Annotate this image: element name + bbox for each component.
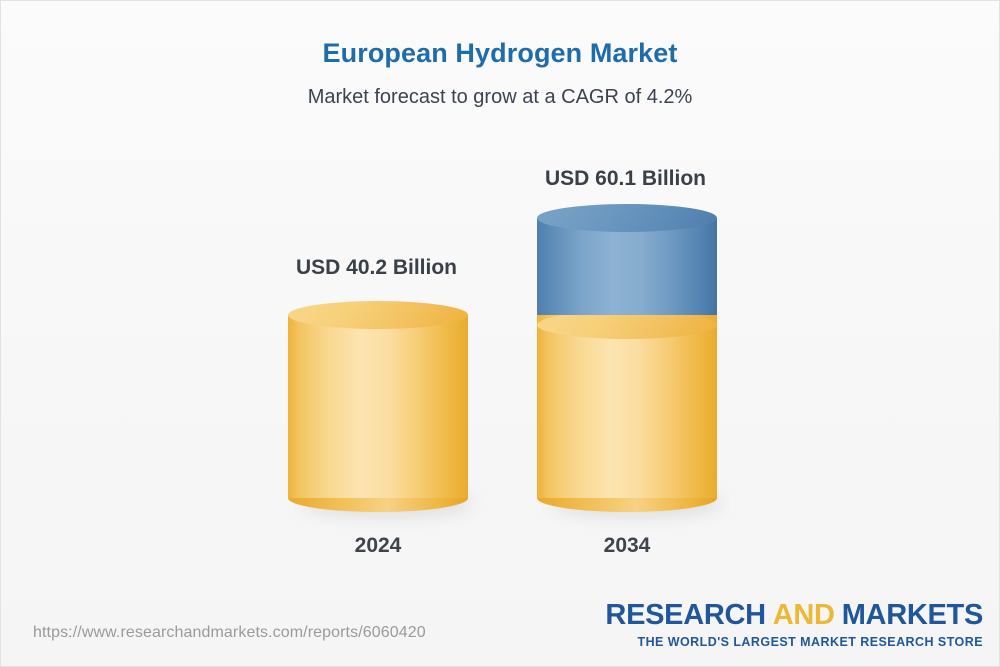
bar-2024[interactable] [288, 301, 468, 512]
bar-2034-top-cap [537, 204, 717, 232]
bar-2034-segment-growth [537, 218, 717, 315]
bar-2024-segment-base [288, 315, 468, 498]
value-label-2024: USD 40.2 Billion [278, 256, 475, 280]
logo-word-and: AND [773, 599, 835, 631]
bar-2024-body [288, 315, 468, 498]
chart-header: European Hydrogen Market Market forecast… [1, 1, 999, 109]
bar-2034[interactable] [537, 204, 717, 512]
category-label-2024: 2024 [288, 534, 468, 558]
category-label-2034: 2034 [537, 534, 717, 558]
bar-2024-top-cap [288, 301, 468, 329]
bar-2034-base-cap [537, 311, 717, 339]
bar-2034-growth-body [537, 218, 717, 315]
bar-2034-segment-base [537, 315, 717, 498]
chart-subtitle: Market forecast to grow at a CAGR of 4.2… [1, 85, 999, 109]
bar-2034-base-body [537, 315, 717, 498]
research-and-markets-logo[interactable]: RESEARCHANDMARKETS THE WORLD'S LARGEST M… [605, 601, 983, 649]
report-url[interactable]: https://www.researchandmarkets.com/repor… [33, 624, 426, 642]
chart-canvas: European Hydrogen Market Market forecast… [0, 0, 1000, 667]
value-label-2034: USD 60.1 Billion [527, 167, 724, 191]
logo-wordmark: RESEARCHANDMARKETS [605, 601, 983, 630]
chart-title: European Hydrogen Market [1, 37, 999, 69]
logo-tagline: THE WORLD'S LARGEST MARKET RESEARCH STOR… [605, 636, 983, 649]
logo-word-markets: MARKETS [842, 599, 983, 631]
logo-word-research: RESEARCH [605, 599, 765, 631]
